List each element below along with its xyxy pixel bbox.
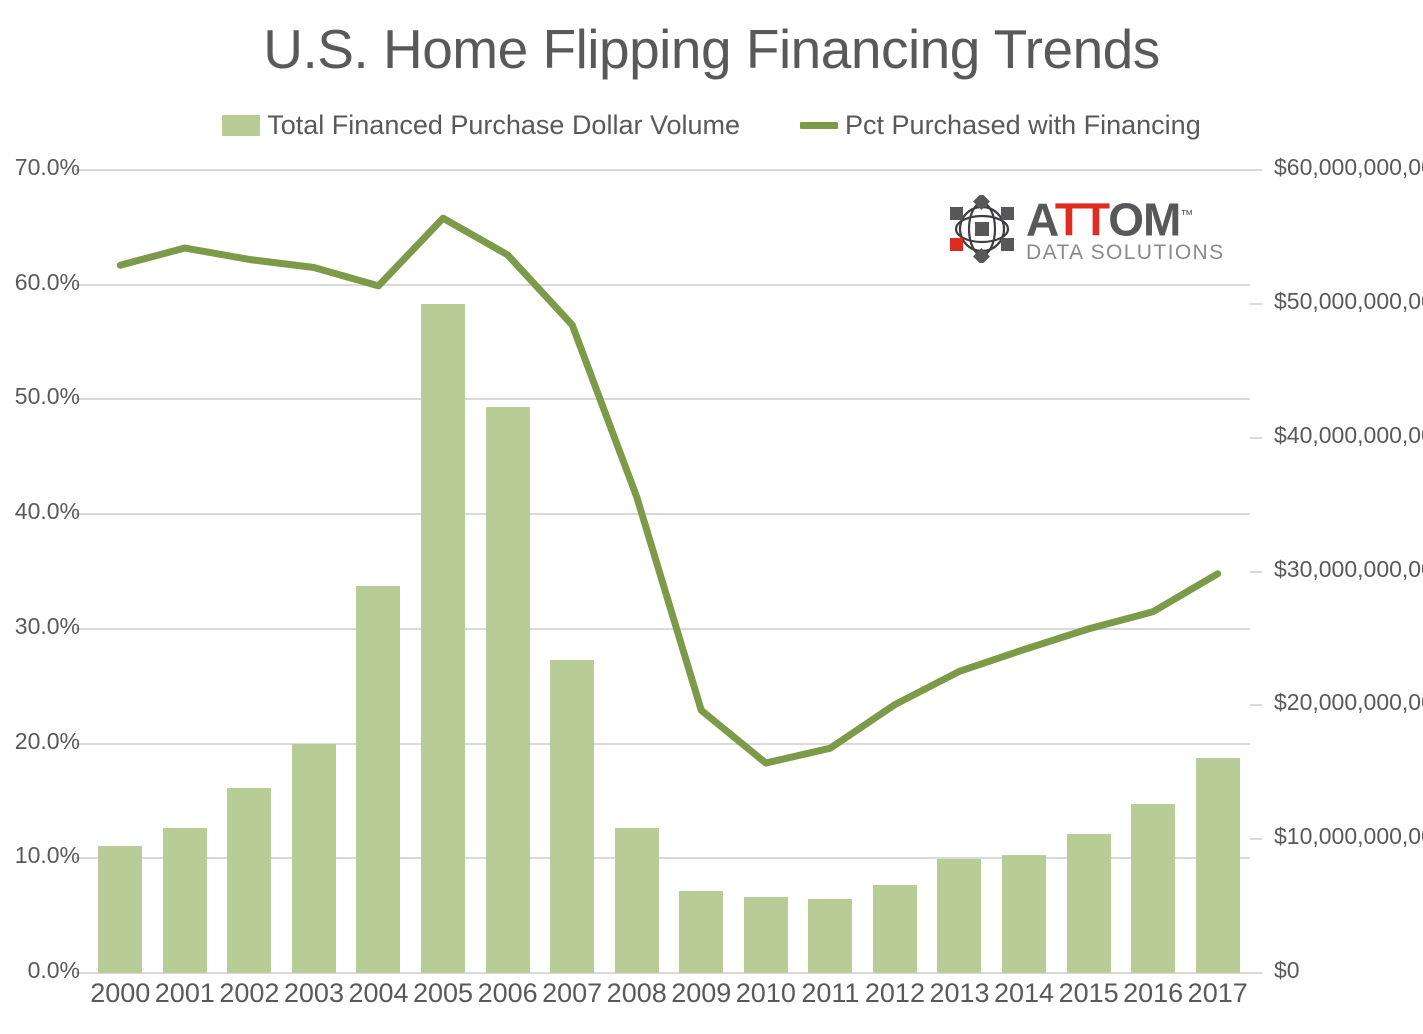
right-axis-label: $30,000,000,000 [1274,556,1423,583]
attom-letter-a: A [1026,193,1055,245]
legend-label-line-series: Pct Purchased with Financing [845,110,1201,140]
page-title: U.S. Home Flipping Financing Trends [0,16,1423,82]
right-axis-label: $60,000,000,000 [1274,154,1423,181]
right-axis-label: $50,000,000,000 [1274,288,1423,315]
right-axis-tick [1250,704,1262,706]
left-axis-label: 10.0% [0,842,80,869]
attom-logo-text: ATTOM™ DATA SOLUTIONS [1026,193,1225,265]
left-axis-label: 30.0% [0,613,80,640]
right-axis-label: $10,000,000,000 [1274,823,1423,850]
trademark-icon: ™ [1180,207,1192,222]
left-axis-label: 0.0% [0,957,80,984]
left-axis-label: 20.0% [0,728,80,755]
line-swatch-icon [800,122,838,129]
attom-logo: ATTOM™ DATA SOLUTIONS [948,192,1236,266]
legend-label-bar-series: Total Financed Purchase Dollar Volume [267,110,740,140]
line-series-group [88,170,1250,973]
right-axis-tick [1250,972,1262,974]
attom-wordmark: ATTOM™ [1026,193,1225,241]
bar-swatch-icon [222,115,260,136]
left-axis-label: 70.0% [0,154,80,181]
attom-letters-tt: TT [1055,193,1108,245]
legend-item-line-series[interactable]: Pct Purchased with Financing [800,110,1201,140]
right-axis-label: $40,000,000,000 [1274,422,1423,449]
left-axis-label: 60.0% [0,269,80,296]
chart-container: U.S. Home Flipping Financing Trends Tota… [0,0,1423,1034]
left-axis-label: 40.0% [0,498,80,525]
legend-item-bar-series[interactable]: Total Financed Purchase Dollar Volume [222,110,740,140]
attom-letters-om: OM [1108,193,1180,245]
right-axis-label: $0 [1274,957,1423,984]
right-axis-tick [1250,437,1262,439]
right-axis-tick [1250,303,1262,305]
plot-area [88,170,1250,973]
line-series-path [120,218,1217,763]
x-axis-labels: 2000200120022003200420052006200720082009… [88,978,1250,1018]
right-axis-tick [1250,571,1262,573]
chart-legend: Total Financed Purchase Dollar Volume Pc… [0,110,1423,140]
x-axis-label: 2017 [1178,978,1258,1009]
right-axis-label: $20,000,000,000 [1274,689,1423,716]
right-axis-tick [1250,838,1262,840]
attom-atom-icon [948,195,1016,263]
left-axis-label: 50.0% [0,383,80,410]
right-axis-tick [1250,169,1262,171]
